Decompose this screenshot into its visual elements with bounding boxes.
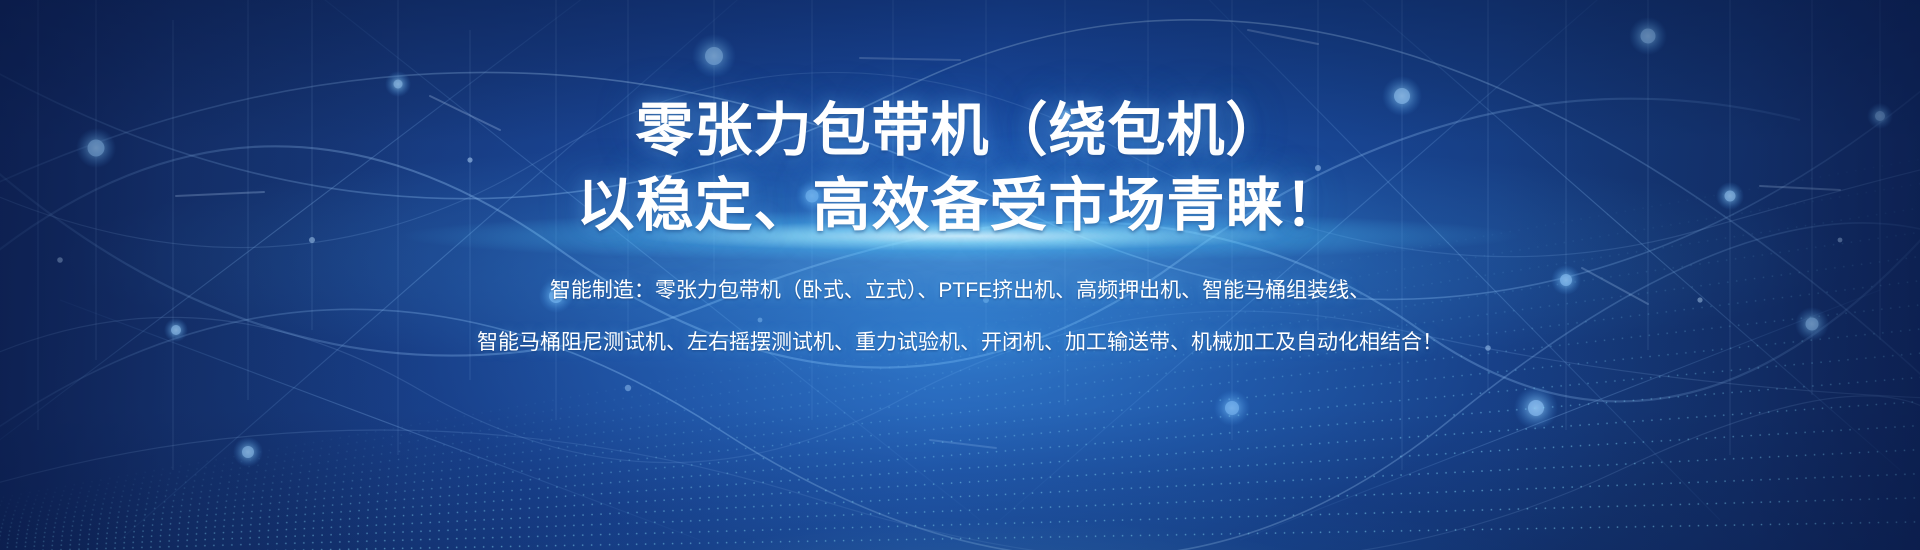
banner-content: 零张力包带机（绕包机） 以稳定、高效备受市场青睐！ 智能制造：零张力包带机（卧式… (0, 0, 1920, 550)
headline-line-2: 以稳定、高效备受市场青睐！ (576, 175, 1343, 238)
subtitle-line-1: 智能制造：零张力包带机（卧式、立式）、PTFE挤出机、高频押出机、智能马桶组装线… (550, 275, 1370, 307)
hero-banner: 零张力包带机（绕包机） 以稳定、高效备受市场青睐！ 智能制造：零张力包带机（卧式… (0, 0, 1920, 550)
headline-line-1: 零张力包带机（绕包机） (635, 100, 1284, 163)
subtitle-line-2: 智能马桶阻尼测试机、左右摇摆测试机、重力试验机、开闭机、加工输送带、机械加工及自… (477, 327, 1443, 359)
